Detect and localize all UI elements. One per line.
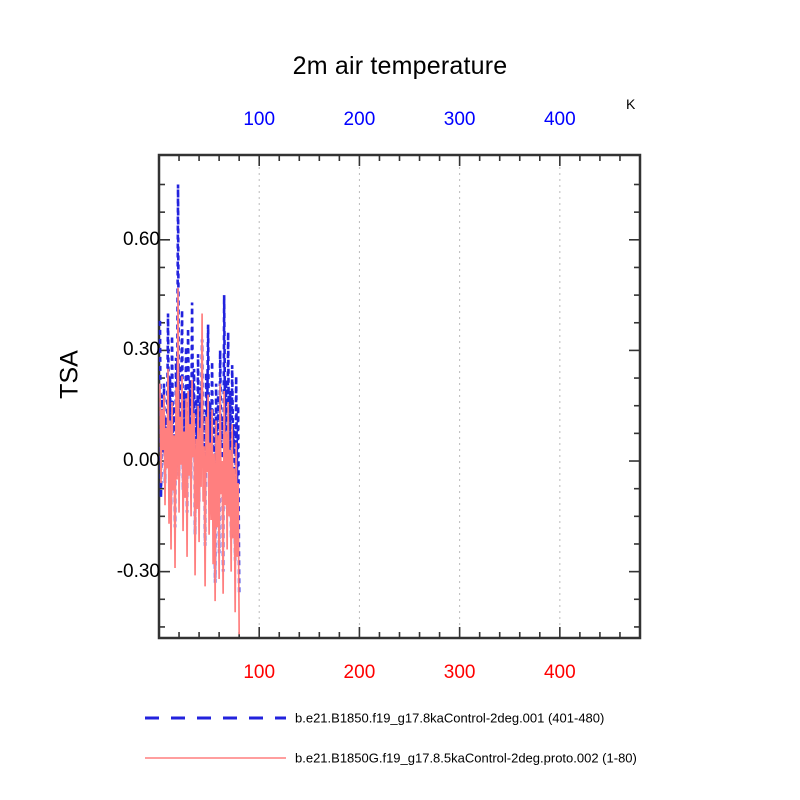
x-tick-label-bottom: 200 xyxy=(344,662,376,684)
x-tick-label-bottom: 300 xyxy=(444,662,476,684)
plot-canvas: 2m air temperature K TSA 100200300400100… xyxy=(0,0,800,800)
x-tick-label-top: 200 xyxy=(344,109,376,131)
x-tick-label-top: 100 xyxy=(243,109,275,131)
y-tick-label: 0.00 xyxy=(40,450,160,472)
plot-area xyxy=(0,0,800,800)
y-tick-label: 0.60 xyxy=(40,229,160,251)
x-tick-label-bottom: 400 xyxy=(544,662,576,684)
x-tick-label-top: 300 xyxy=(444,109,476,131)
y-tick-label: 0.30 xyxy=(40,339,160,361)
x-tick-label-bottom: 100 xyxy=(243,662,275,684)
y-tick-label: -0.30 xyxy=(40,561,160,583)
x-tick-label-top: 400 xyxy=(544,109,576,131)
